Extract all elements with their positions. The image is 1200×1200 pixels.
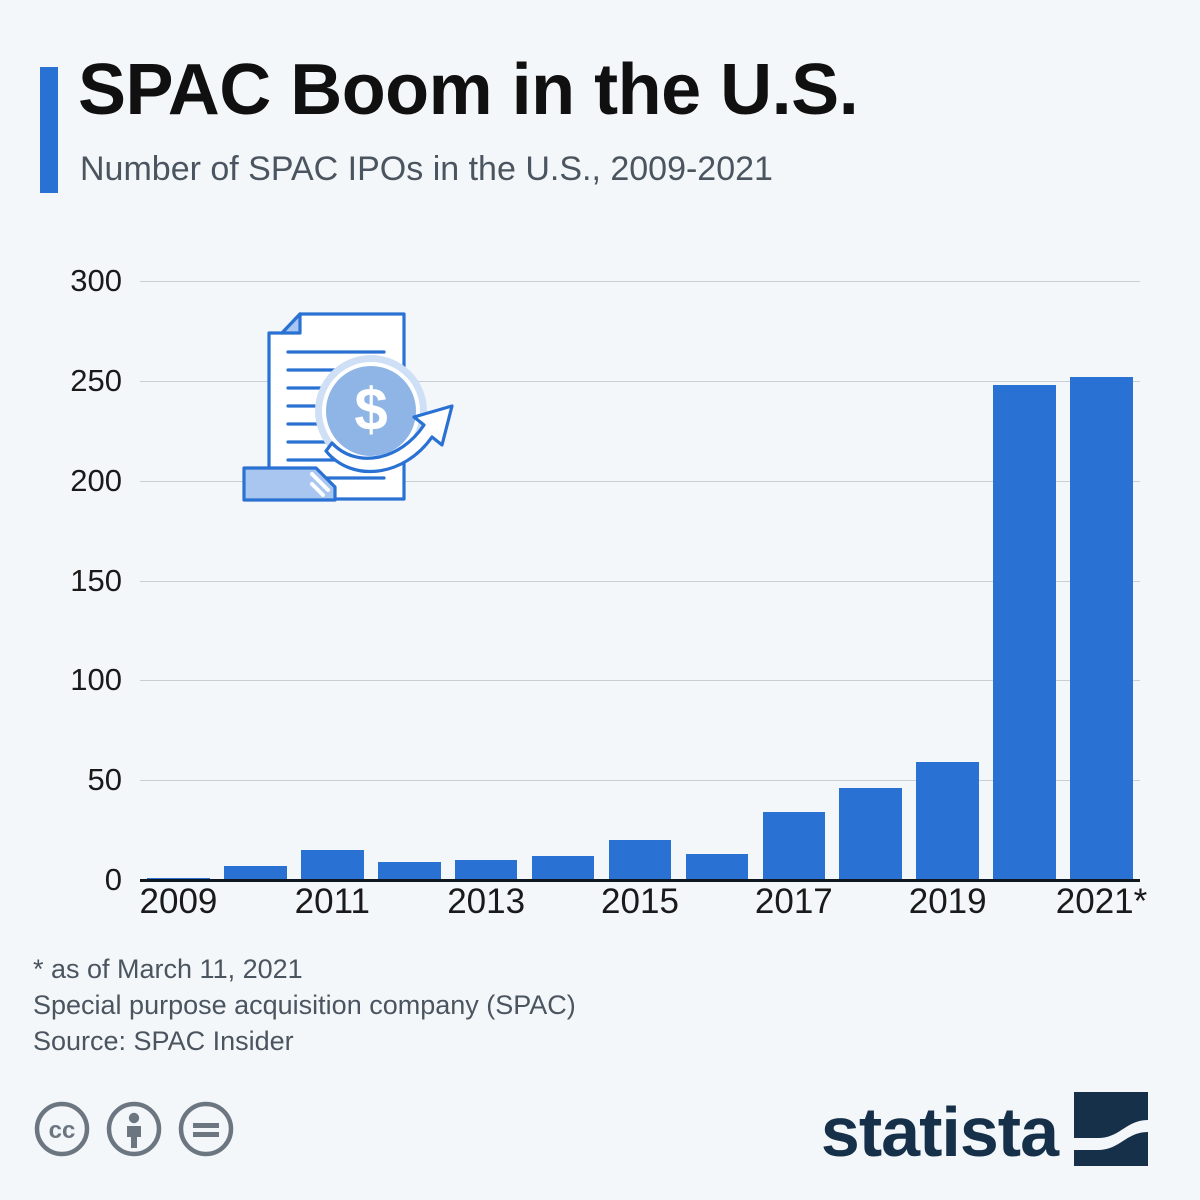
bar-2017[interactable] — [763, 812, 826, 880]
x-axis-tick-label: 2013 — [409, 884, 563, 919]
bar-2010[interactable] — [224, 866, 287, 880]
bar-2014[interactable] — [532, 856, 595, 880]
svg-text:cc: cc — [49, 1117, 76, 1144]
creative-commons-icons: cc — [33, 1100, 235, 1163]
bar-2015[interactable] — [609, 840, 672, 880]
bar-chart: 050100150200250300 200920112013201520172… — [0, 0, 1200, 940]
footnote-source: Source: SPAC Insider — [33, 1024, 833, 1060]
bar-2021[interactable] — [1070, 377, 1133, 880]
bar-2020[interactable] — [993, 385, 1056, 880]
x-axis-tick-label: 2011 — [255, 884, 409, 919]
statista-wordmark: statista — [821, 1097, 1058, 1167]
x-axis-tick-label: 2015 — [563, 884, 717, 919]
statista-mark-icon — [1074, 1092, 1148, 1171]
bar-2011[interactable] — [301, 850, 364, 880]
svg-text:$: $ — [354, 376, 387, 443]
cc-nd-equals-icon[interactable] — [177, 1100, 235, 1163]
x-axis-tick-label: 2017 — [717, 884, 871, 919]
bar-2012[interactable] — [378, 862, 441, 880]
bar-2018[interactable] — [839, 788, 902, 880]
x-axis-tick-label: 2009 — [102, 884, 256, 919]
bar-2016[interactable] — [686, 854, 749, 880]
cc-icon[interactable]: cc — [33, 1100, 91, 1163]
statista-logo[interactable]: statista — [821, 1092, 1148, 1171]
cc-by-person-icon[interactable] — [105, 1100, 163, 1163]
document-money-icon: $ — [228, 303, 460, 511]
footnotes: * as of March 11, 2021 Special purpose a… — [33, 952, 833, 1060]
bars-group — [0, 0, 1200, 880]
bar-2013[interactable] — [455, 860, 518, 880]
x-axis-tick-label: 2021* — [1025, 884, 1179, 919]
bar-2019[interactable] — [916, 762, 979, 880]
x-axis-tick-label: 2019 — [871, 884, 1025, 919]
footnote-asterisk: * as of March 11, 2021 — [33, 952, 833, 988]
footnote-definition: Special purpose acquisition company (SPA… — [33, 988, 833, 1024]
